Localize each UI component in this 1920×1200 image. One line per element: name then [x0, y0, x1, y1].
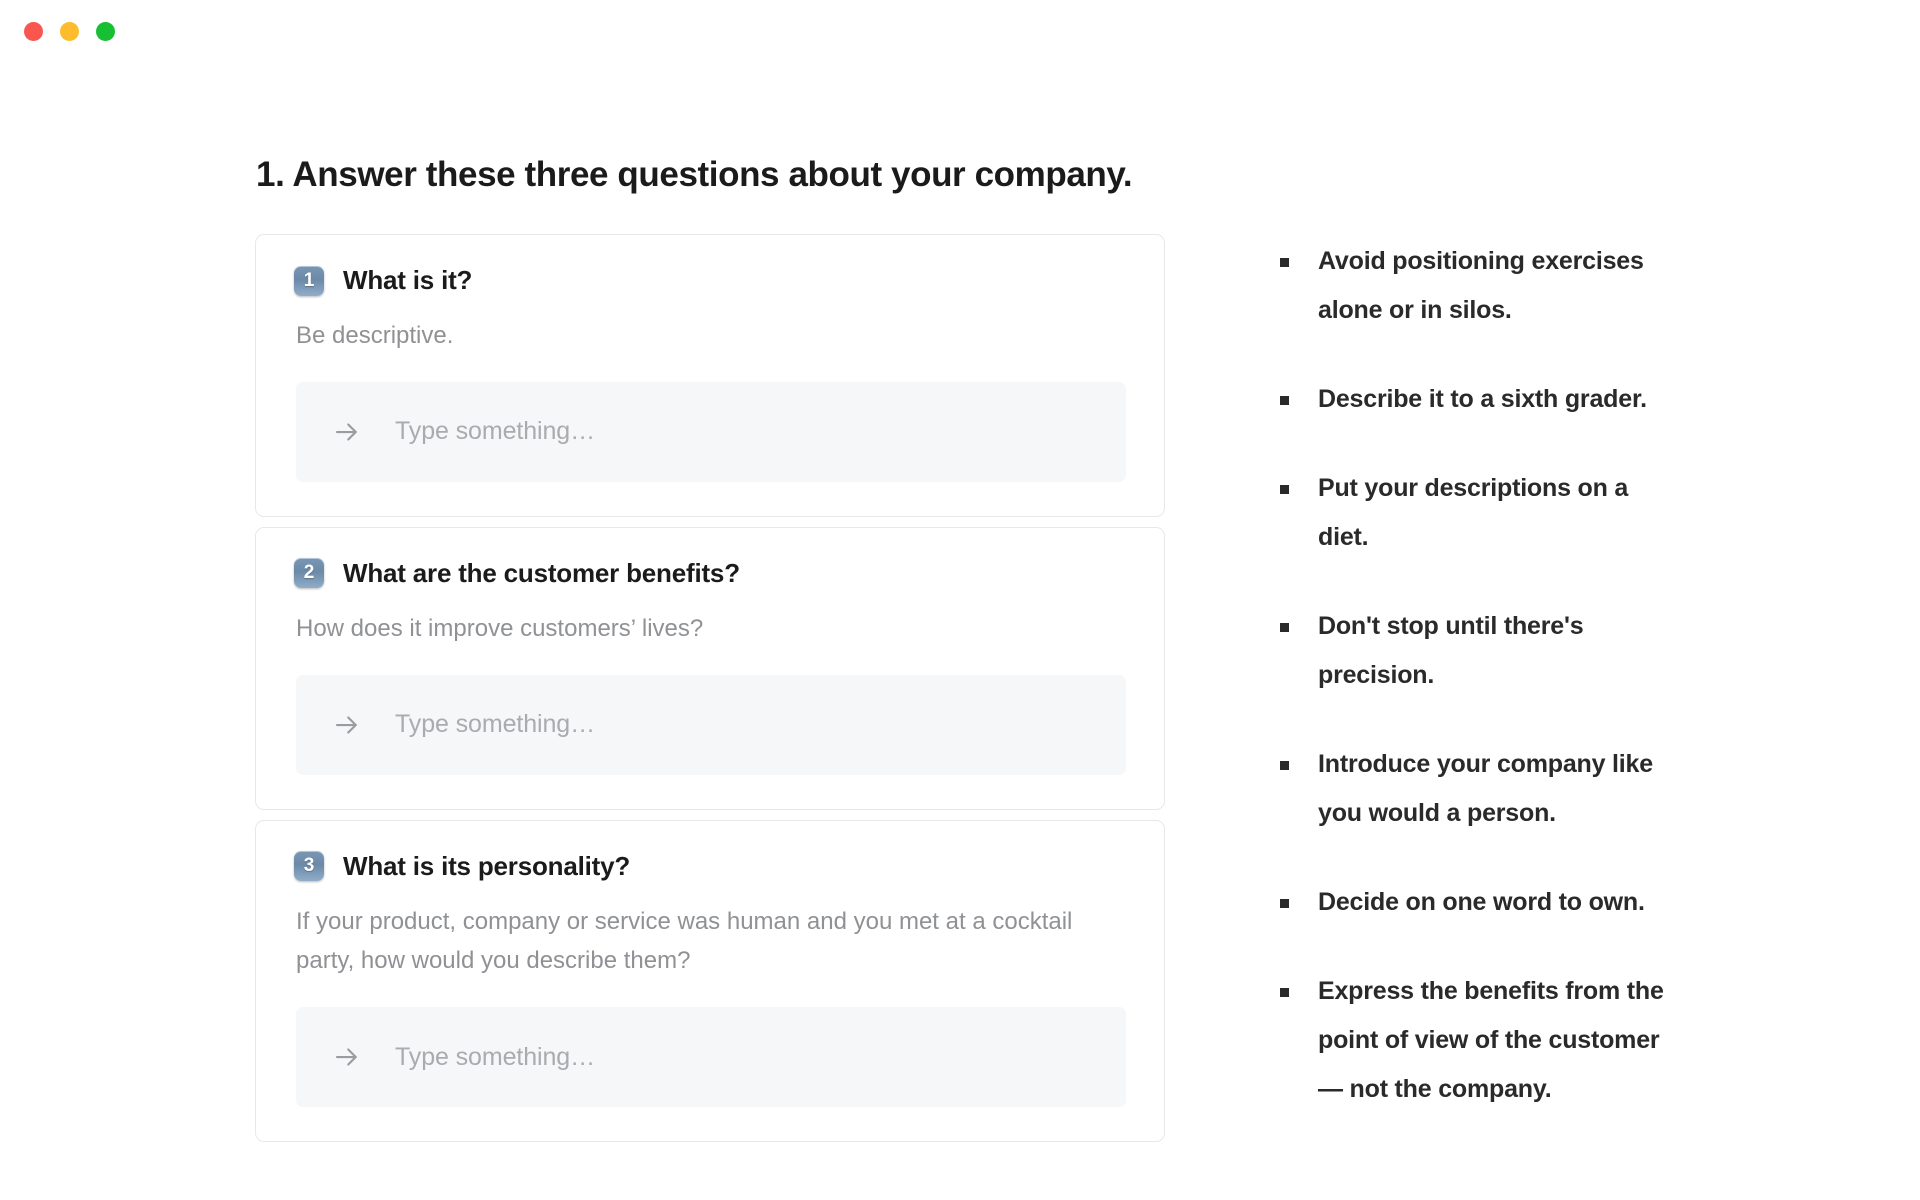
page-content: 1. Answer these three questions about yo… — [0, 62, 1920, 1200]
list-item: Put your descriptions on a diet. — [1278, 464, 1678, 562]
answer-input-1[interactable]: Type something… — [296, 382, 1126, 482]
question-title-3: What is its personality? — [343, 851, 630, 882]
question-description-3: If your product, company or service was … — [296, 902, 1086, 982]
question-card-3-header: 3 What is its personality? — [294, 851, 1126, 882]
tip-text: Avoid positioning exercises alone or in … — [1318, 247, 1644, 324]
window-titlebar — [0, 0, 1920, 62]
question-description-1: Be descriptive. — [296, 316, 1086, 356]
question-card-2-header: 2 What are the customer benefits? — [294, 558, 1126, 589]
tip-text: Decide on one word to own. — [1318, 888, 1645, 916]
arrow-right-icon — [332, 417, 362, 447]
question-number-badge-1: 1 — [294, 266, 324, 296]
tip-text: Don't stop until there's precision. — [1318, 612, 1583, 689]
question-card-2: 2 What are the customer benefits? How do… — [255, 527, 1165, 810]
tip-text: Describe it to a sixth grader. — [1318, 385, 1647, 413]
question-card-1-header: 1 What is it? — [294, 265, 1126, 296]
bullet-square-icon — [1280, 396, 1289, 405]
bullet-square-icon — [1280, 258, 1289, 267]
question-card-3: 3 What is its personality? If your produ… — [255, 820, 1165, 1143]
question-number-badge-2: 2 — [294, 558, 324, 588]
maximize-window-button[interactable] — [96, 22, 115, 41]
tip-text: Express the benefits from the point of v… — [1318, 977, 1664, 1103]
answer-input-3[interactable]: Type something… — [296, 1007, 1126, 1107]
answer-input-2[interactable]: Type something… — [296, 675, 1126, 775]
close-window-button[interactable] — [24, 22, 43, 41]
list-item: Avoid positioning exercises alone or in … — [1278, 237, 1678, 335]
answer-placeholder-2: Type something… — [395, 710, 595, 739]
arrow-right-icon — [332, 710, 362, 740]
list-item: Describe it to a sixth grader. — [1278, 375, 1678, 424]
window-traffic-lights — [24, 22, 115, 41]
list-item: Decide on one word to own. — [1278, 878, 1678, 927]
tips-list: Avoid positioning exercises alone or in … — [1278, 237, 1678, 1114]
answer-placeholder-1: Type something… — [395, 417, 595, 446]
bullet-square-icon — [1280, 899, 1289, 908]
page-title: 1. Answer these three questions about yo… — [256, 155, 1132, 195]
tip-text: Introduce your company like you would a … — [1318, 750, 1653, 827]
question-cards-list: 1 What is it? Be descriptive. Type somet… — [255, 234, 1165, 1152]
list-item: Express the benefits from the point of v… — [1278, 967, 1678, 1114]
question-title-1: What is it? — [343, 265, 472, 296]
bullet-square-icon — [1280, 761, 1289, 770]
arrow-right-icon — [332, 1042, 362, 1072]
list-item: Introduce your company like you would a … — [1278, 740, 1678, 838]
question-card-1: 1 What is it? Be descriptive. Type somet… — [255, 234, 1165, 517]
tip-text: Put your descriptions on a diet. — [1318, 474, 1628, 551]
question-number-badge-3: 3 — [294, 851, 324, 881]
minimize-window-button[interactable] — [60, 22, 79, 41]
question-title-2: What are the customer benefits? — [343, 558, 740, 589]
bullet-square-icon — [1280, 623, 1289, 632]
list-item: Don't stop until there's precision. — [1278, 602, 1678, 700]
bullet-square-icon — [1280, 485, 1289, 494]
question-description-2: How does it improve customers’ lives? — [296, 609, 1086, 649]
answer-placeholder-3: Type something… — [395, 1043, 595, 1072]
bullet-square-icon — [1280, 988, 1289, 997]
